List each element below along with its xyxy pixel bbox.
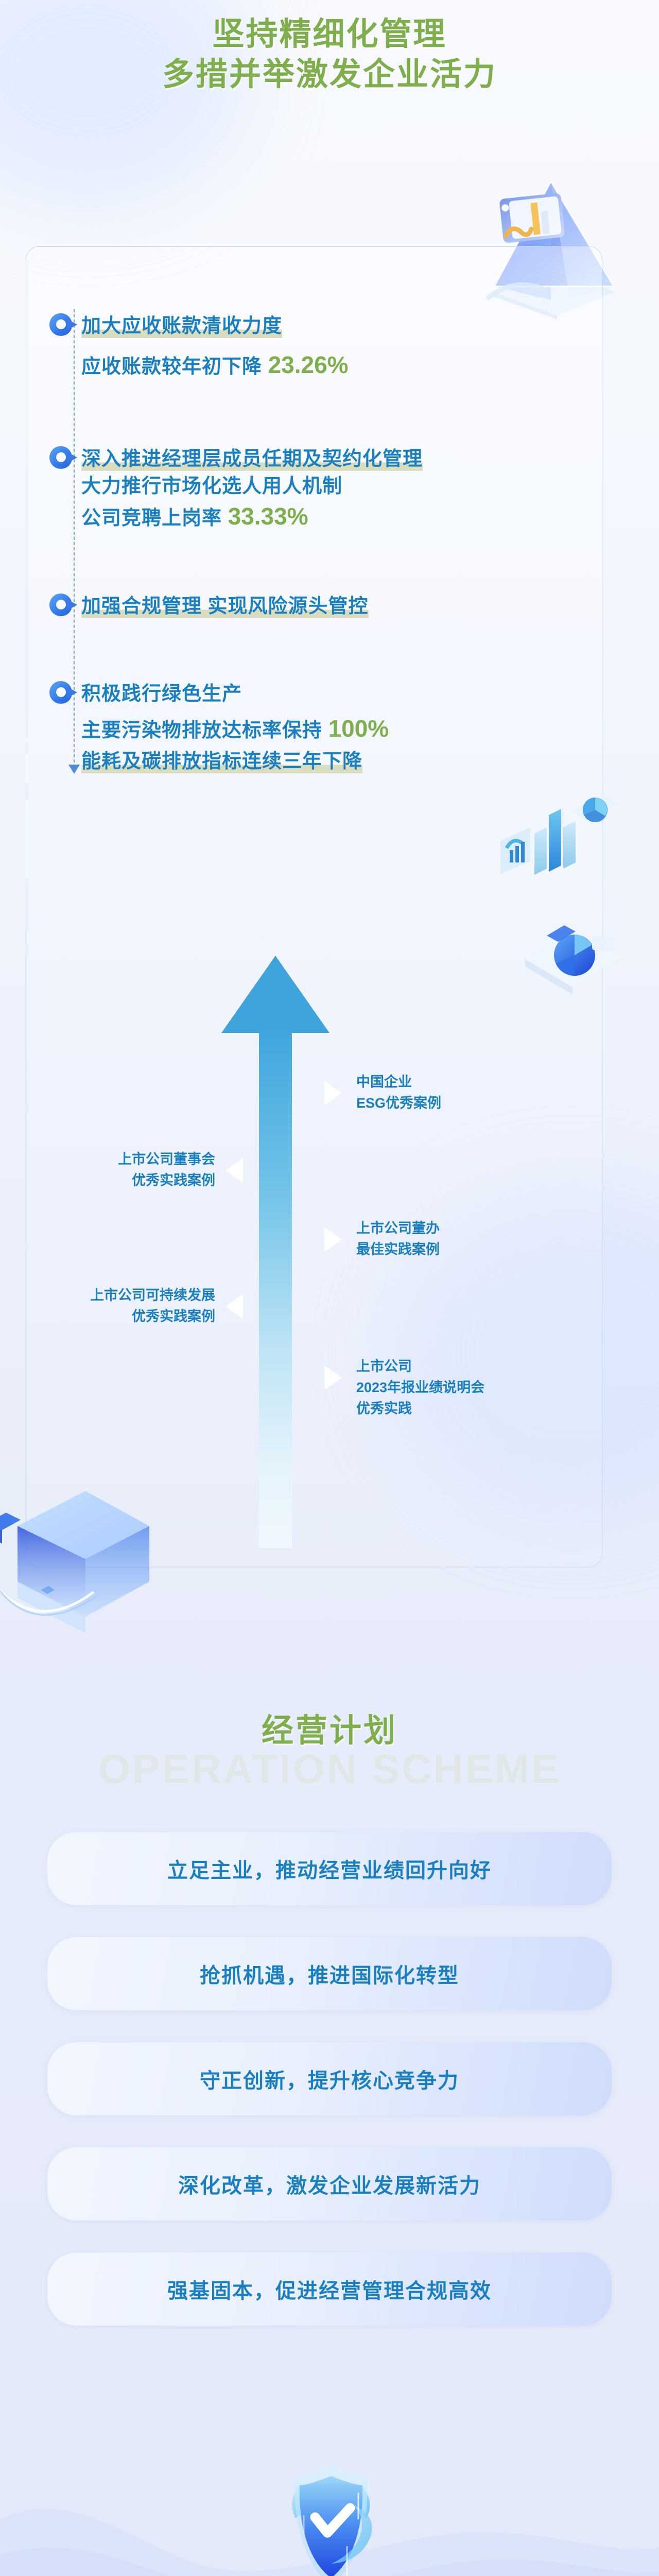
highlight-item-2-head: 深入推进经理层成员任期及契约化管理 xyxy=(81,447,423,471)
highlight-item-4-line-2: 能耗及碳排放指标连续三年下降 xyxy=(81,749,362,774)
plan-item-3-label: 守正创新，提升核心竞争力 xyxy=(200,2064,459,2094)
plan-item-4[interactable]: 深化改革，激发企业发展新活力 xyxy=(47,2147,612,2221)
upward-arrow-icon xyxy=(221,956,329,1548)
bullet-marker-icon xyxy=(49,594,74,618)
plan-item-5-label: 强基固本，促进经营管理合规高效 xyxy=(167,2274,492,2304)
plan-watermark: OPERATION SCHEME xyxy=(0,1745,659,1793)
award-item-5: 上市公司 2023年报业绩说明会 优秀实践 xyxy=(356,1356,484,1419)
plan-item-2-label: 抢抓机遇，推进国际化转型 xyxy=(200,1959,459,1989)
highlight-item-3-head: 加强合规管理 实现风险源头管控 xyxy=(81,595,369,618)
plan-item-1-label: 立足主业，推动经营业绩回升向好 xyxy=(167,1854,492,1884)
highlight-item-1-head: 加大应收账款清收力度 xyxy=(81,314,282,338)
hero-title-line-1: 坚持精细化管理 xyxy=(0,14,659,55)
timeline-arrow-down-icon xyxy=(68,765,80,774)
award-item-1: 中国企业 ESG优秀案例 xyxy=(356,1072,441,1114)
shield-check-icon xyxy=(272,2455,390,2576)
hero-title-line-2: 多措并举激发企业活力 xyxy=(0,55,659,95)
award-marker-1-icon xyxy=(324,1081,342,1106)
plan-item-1[interactable]: 立足主业，推动经营业绩回升向好 xyxy=(47,1832,612,1905)
bullet-marker-icon xyxy=(49,681,74,706)
bullet-marker-icon xyxy=(49,446,74,471)
award-item-4: 上市公司可持续发展 优秀实践案例 xyxy=(9,1285,215,1327)
award-marker-2-icon xyxy=(226,1158,243,1183)
plan-item-5[interactable]: 强基固本，促进经营管理合规高效 xyxy=(47,2252,612,2326)
award-marker-5-icon xyxy=(324,1365,342,1390)
highlight-item-2-line-1: 大力推行市场化选人用人机制 xyxy=(81,474,342,499)
highlight-item-2-line-2: 公司竞聘上岗率 33.33% xyxy=(81,504,308,531)
plan-item-4-label: 深化改革，激发企业发展新活力 xyxy=(178,2169,481,2199)
bg-wave-bottom xyxy=(0,2401,659,2576)
plan-title: 经营计划 xyxy=(262,1713,397,1749)
plan-item-3[interactable]: 守正创新，提升核心竞争力 xyxy=(47,2042,612,2115)
highlight-item-4-line-1: 主要污染物排放达标率保持 100% xyxy=(81,716,389,743)
award-item-2: 上市公司董事会 优秀实践案例 xyxy=(61,1149,215,1191)
bullet-marker-icon xyxy=(49,313,74,338)
award-item-3: 上市公司董办 最佳实践案例 xyxy=(356,1218,440,1260)
plan-title-block: 经营计划 xyxy=(0,1704,659,1751)
award-marker-3-icon xyxy=(324,1227,342,1252)
highlight-item-4-head: 积极践行绿色生产 xyxy=(81,682,242,706)
highlight-item-1-line-1: 应收账款较年初下降 23.26% xyxy=(81,352,349,379)
infographic-poster: 坚持精细化管理 多措并举激发企业活力 xyxy=(0,0,659,2576)
hero-title-block: 坚持精细化管理 多措并举激发企业活力 xyxy=(0,14,659,95)
plan-item-2[interactable]: 抢抓机遇，推进国际化转型 xyxy=(47,1937,612,2010)
award-marker-4-icon xyxy=(226,1294,243,1319)
